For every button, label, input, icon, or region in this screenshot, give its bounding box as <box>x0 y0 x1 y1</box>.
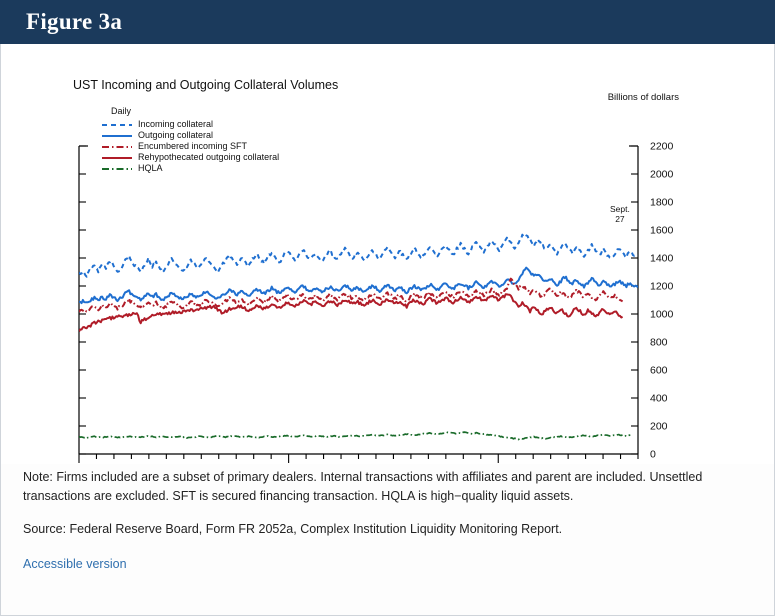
y-tick-label: 0 <box>650 449 656 461</box>
note-paragraph: Note: Firms included are a subset of pri… <box>23 468 751 506</box>
figure-notes: Note: Firms included are a subset of pri… <box>23 468 751 573</box>
y-tick-label: 1600 <box>650 225 674 237</box>
y-tick-label: 2000 <box>650 169 674 181</box>
figure-header: Figure 3a <box>0 0 775 44</box>
figure-card: Figure 3a UST Incoming and Outgoing Coll… <box>0 0 775 616</box>
figure-body: UST Incoming and Outgoing Collateral Vol… <box>0 44 775 616</box>
accessible-version-link[interactable]: Accessible version <box>23 557 127 571</box>
series-line <box>79 432 630 439</box>
y-tick-label: 2200 <box>650 141 674 153</box>
y-tick-label: 600 <box>650 365 668 377</box>
chart-plot: 0200400600800100012001400160018002000220… <box>1 44 774 464</box>
y-tick-label: 400 <box>650 393 668 405</box>
y-tick-label: 1800 <box>650 197 674 209</box>
series-group <box>79 235 638 440</box>
y-tick-label: 800 <box>650 337 668 349</box>
y-tick-label: 1400 <box>650 253 674 265</box>
y-tick-label: 1000 <box>650 309 674 321</box>
y-tick-label: 1200 <box>650 281 674 293</box>
y-tick-label: 200 <box>650 421 668 433</box>
source-paragraph: Source: Federal Reserve Board, Form FR 2… <box>23 520 751 539</box>
chart-container: UST Incoming and Outgoing Collateral Vol… <box>1 44 774 464</box>
series-line <box>79 235 638 277</box>
figure-title: Figure 3a <box>0 9 122 35</box>
series-line <box>79 279 623 312</box>
